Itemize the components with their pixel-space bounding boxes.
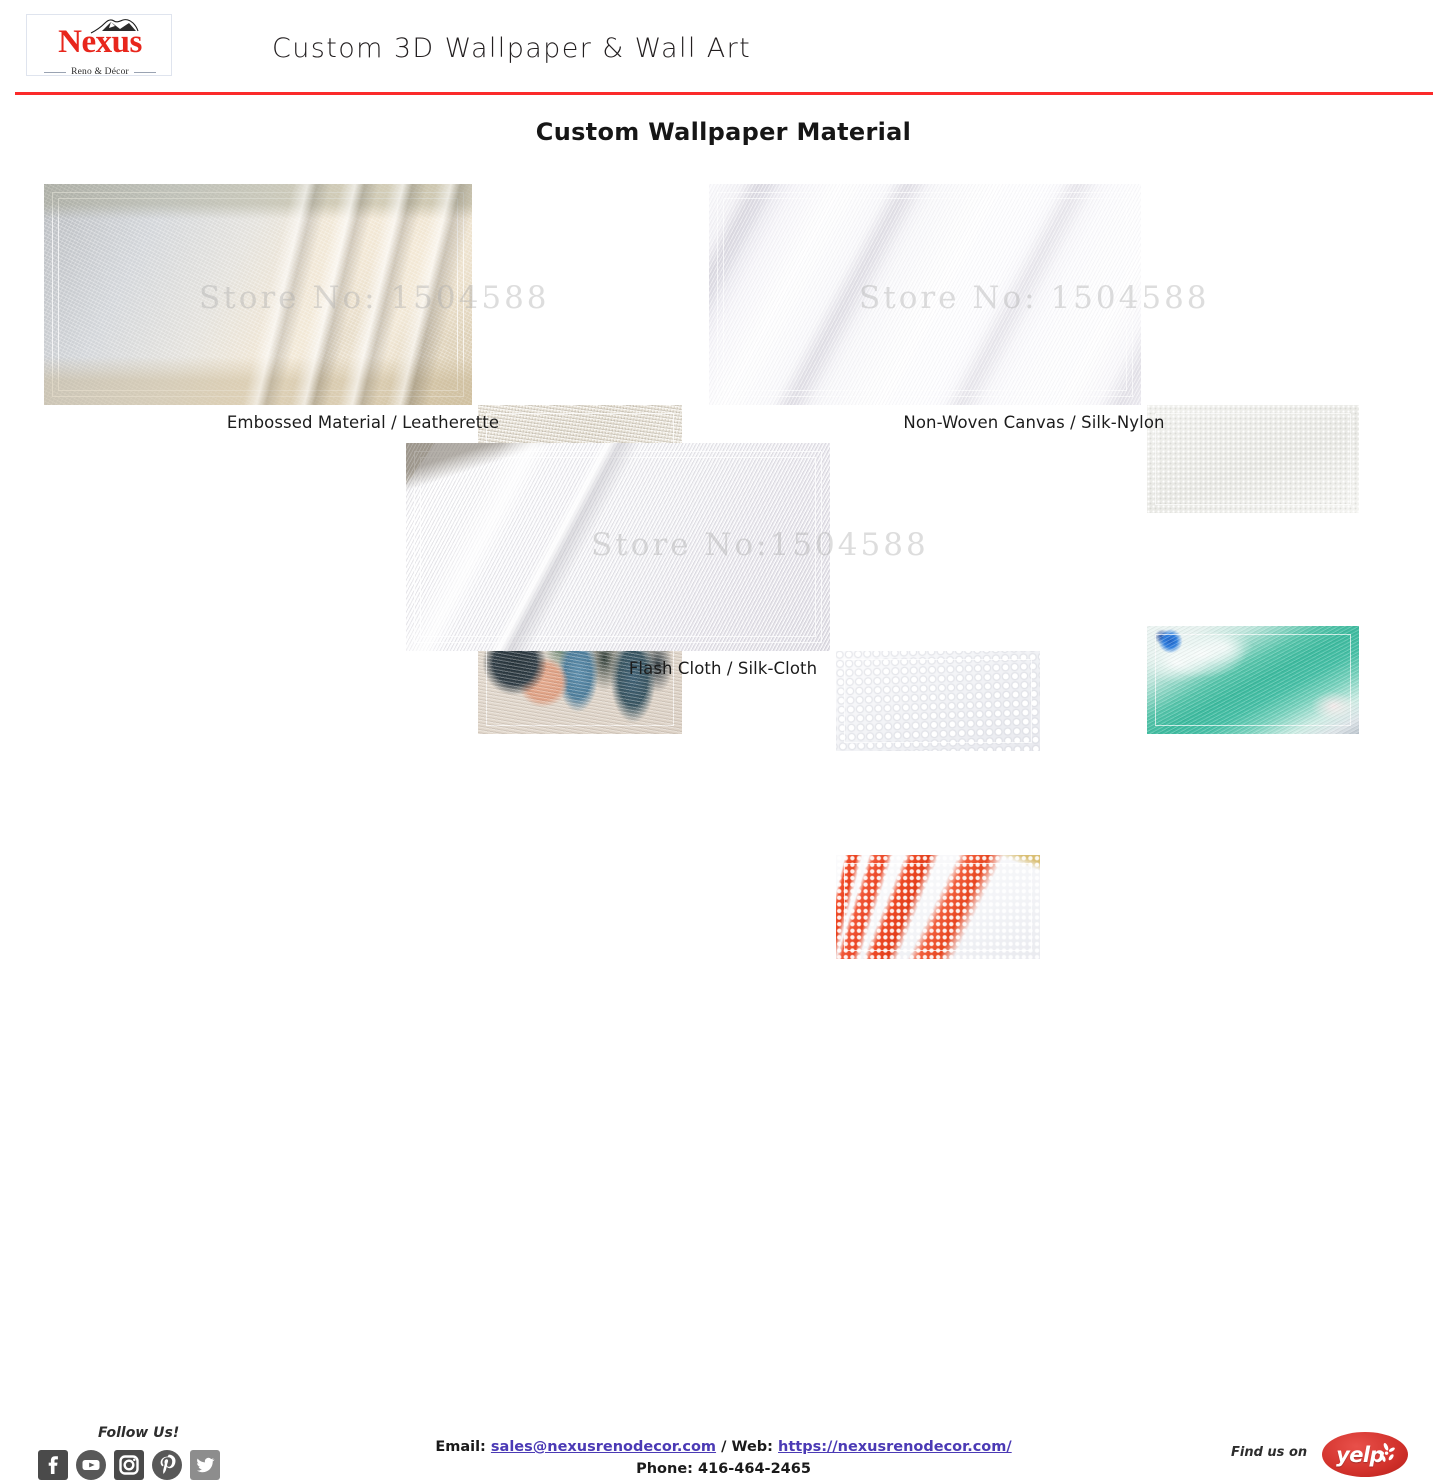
image-white-silk-drape[interactable]	[709, 184, 1141, 405]
caption-flashcloth: Flash Cloth / Silk-Cloth	[406, 659, 1040, 678]
image-embossed-wallpaper-roll[interactable]	[44, 184, 472, 405]
yelp-badge[interactable]: yelp	[1322, 1432, 1408, 1477]
find-us-on-label: Find us on	[1231, 1445, 1307, 1460]
email-label: Email:	[435, 1439, 486, 1455]
decor-frame-outer	[717, 192, 1133, 397]
contact-info: Email: sales@nexusrenodecor.com / Web: h…	[0, 1436, 1447, 1480]
website-link[interactable]: https://nexusrenodecor.com/	[778, 1439, 1012, 1455]
section-heading: Custom Wallpaper Material	[0, 118, 1447, 146]
logo-rule-left	[44, 72, 66, 73]
decor-frame-outer	[414, 451, 822, 643]
caption-nonwoven: Non-Woven Canvas / Silk-Nylon	[709, 413, 1359, 432]
image-red-printed-flash-cloth[interactable]	[836, 855, 1040, 959]
logo-rule-right	[134, 72, 156, 73]
material-group-nonwoven[interactable]: Store No: 1504588 Non-Woven Canvas / Sil…	[709, 184, 1359, 432]
caption-embossed: Embossed Material / Leatherette	[44, 413, 682, 432]
material-group-flashcloth[interactable]: Store No:1504588 Flash Cloth / Silk-Clot…	[406, 443, 1040, 689]
page-header: Nexus Reno & Décor Custom 3D Wallpaper &…	[0, 0, 1447, 98]
page-title: Custom 3D Wallpaper & Wall Art	[272, 33, 751, 64]
decor-frame-outer	[52, 192, 464, 397]
logo-wordmark: Nexus	[27, 26, 173, 59]
material-group-embossed[interactable]: Store No: 1504588 Embossed Material / Le…	[44, 184, 682, 432]
image-flash-cloth-sheet[interactable]	[406, 443, 830, 651]
brand-logo[interactable]: Nexus Reno & Décor	[26, 14, 172, 76]
page-footer: Follow Us!	[0, 706, 1447, 800]
logo-tagline-row: Reno & Décor	[27, 67, 173, 77]
yelp-burst-icon	[1375, 1442, 1397, 1469]
email-link[interactable]: sales@nexusrenodecor.com	[491, 1439, 716, 1455]
web-label: Web:	[731, 1439, 773, 1455]
logo-tagline: Reno & Décor	[71, 67, 129, 77]
decor-frame-inner	[723, 198, 1127, 391]
header-divider	[15, 92, 1433, 95]
decor-frame-inner	[420, 457, 816, 637]
contact-separator: /	[721, 1439, 726, 1455]
decor-frame-inner	[58, 198, 458, 391]
phone-line: Phone: 416-464-2465	[0, 1458, 1447, 1480]
decor-frame-outer	[844, 863, 1032, 951]
